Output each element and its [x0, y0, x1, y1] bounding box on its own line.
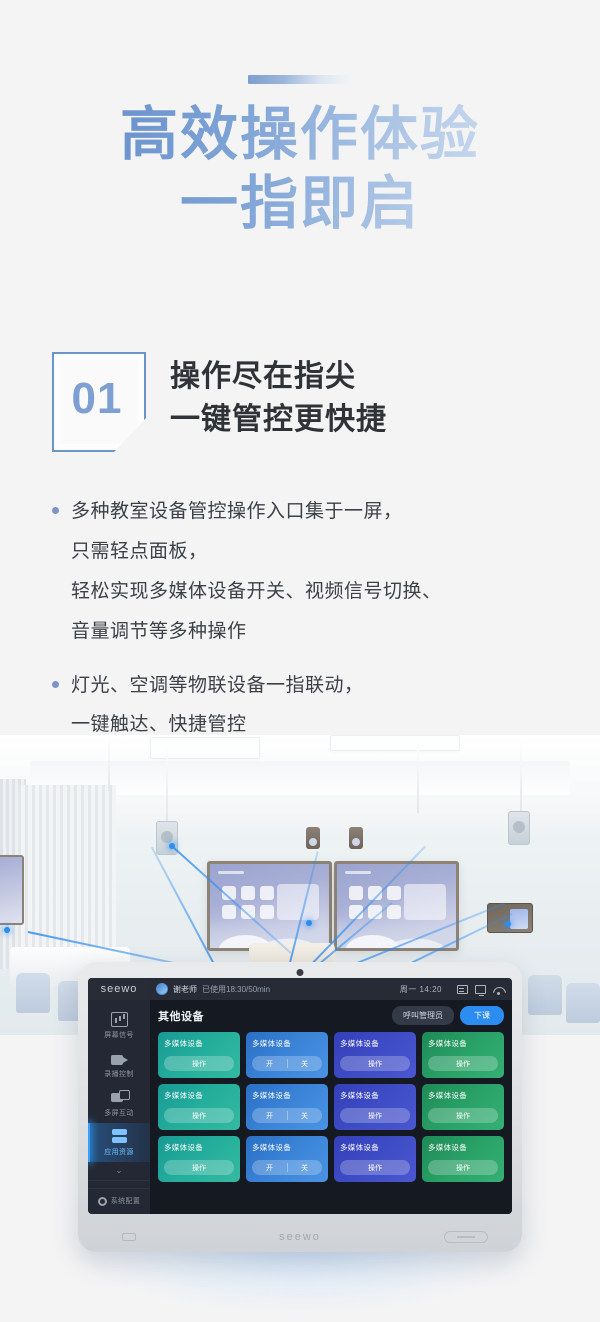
feature-bullet-list: 多种教室设备管控操作入口集于一屏， 只需轻点面板， 轻松实现多媒体设备开关、视频…: [52, 492, 572, 759]
section-heading: 操作尽在指尖 一键管控更快捷: [170, 352, 387, 441]
tablet-camera-icon: [297, 969, 304, 976]
device-switch-button[interactable]: 开 关: [252, 1160, 322, 1175]
status-time: 周一 14:20: [400, 984, 442, 995]
bullet-dot-icon: [52, 507, 59, 514]
panel-header: 其他设备 呼叫管理员 下课: [158, 1006, 504, 1025]
connection-node: [505, 921, 511, 927]
device-card[interactable]: 多媒体设备 开 关: [246, 1032, 328, 1078]
device-action-button[interactable]: 操作: [164, 1056, 234, 1071]
status-bar: seewo 谢老师 已使用18:30/50min 周一 14:20: [88, 978, 512, 1000]
speaker-rod: [417, 739, 419, 813]
record-control-icon: [111, 1051, 128, 1066]
bullet-line: 灯光、空调等物联设备一指联动，: [71, 666, 364, 706]
device-switch-button[interactable]: 开 关: [252, 1056, 322, 1071]
classroom-chair: [16, 973, 50, 1013]
tablet-screen: seewo 谢老师 已使用18:30/50min 周一 14:20 屏幕信号 录…: [88, 978, 512, 1214]
screen-signal-icon: [111, 1012, 128, 1027]
ceiling-light-panel: [330, 735, 460, 751]
app-resource-icon: [111, 1129, 128, 1144]
device-card-title: 多媒体设备: [340, 1142, 410, 1153]
section-header: 01 操作尽在指尖 一键管控更快捷: [52, 352, 552, 452]
device-card-title: 多媒体设备: [428, 1142, 498, 1153]
device-card-title: 多媒体设备: [428, 1090, 498, 1101]
switch-off-label[interactable]: 关: [287, 1059, 322, 1069]
device-card-title: 多媒体设备: [340, 1090, 410, 1101]
device-card[interactable]: 多媒体设备 操作: [158, 1136, 240, 1182]
sidebar-item-label: 应用资源: [104, 1147, 134, 1157]
section-number-badge: 01: [52, 352, 146, 452]
control-panel-tablet: seewo 谢老师 已使用18:30/50min 周一 14:20 屏幕信号 录…: [78, 962, 522, 1252]
device-card-title: 多媒体设备: [252, 1090, 322, 1101]
list-item: 灯光、空调等物联设备一指联动， 一键触达、快捷管控: [52, 666, 572, 746]
sidebar-item-multi-screen[interactable]: 多屏互动: [88, 1084, 150, 1123]
device-action-button[interactable]: 操作: [428, 1160, 498, 1175]
sidebar-item-record-control[interactable]: 录播控制: [88, 1045, 150, 1084]
status-user-name: 谢老师: [173, 984, 197, 995]
multi-screen-icon: [111, 1090, 128, 1105]
tablet-sidebar: 屏幕信号 录播控制 多屏互动 应用资源 ⌄ 系统配置: [88, 1000, 150, 1214]
device-card-title: 多媒体设备: [164, 1038, 234, 1049]
device-action-button[interactable]: 操作: [340, 1056, 410, 1071]
sensor-icon: [122, 1233, 136, 1241]
sidebar-item-screen-signal[interactable]: 屏幕信号: [88, 1006, 150, 1045]
switch-on-label[interactable]: 开: [252, 1059, 287, 1069]
chevron-down-icon[interactable]: ⌄: [88, 1162, 150, 1181]
status-usage-text: 已使用18:30/50min: [202, 984, 270, 995]
switch-off-label[interactable]: 关: [287, 1111, 322, 1121]
device-action-button[interactable]: 操作: [428, 1056, 498, 1071]
switch-divider: [287, 1163, 288, 1172]
avatar[interactable]: [156, 983, 168, 995]
gear-icon: [98, 1197, 107, 1206]
device-card-title: 多媒体设备: [164, 1142, 234, 1153]
speaker-grill-icon: [444, 1231, 488, 1243]
sidebar-item-app-resource[interactable]: 应用资源: [88, 1123, 150, 1162]
classroom-chair: [528, 975, 562, 1015]
bullet-line: 音量调节等多种操作: [71, 612, 442, 652]
list-item: 多种教室设备管控操作入口集于一屏， 只需轻点面板， 轻松实现多媒体设备开关、视频…: [52, 492, 572, 652]
hero-title-line-2: 一指即启: [0, 173, 600, 236]
device-card[interactable]: 多媒体设备 开 关: [246, 1084, 328, 1130]
end-class-button[interactable]: 下课: [460, 1006, 504, 1025]
wifi-icon[interactable]: [493, 985, 504, 994]
main-display-left: [207, 861, 332, 951]
panel-content: 其他设备 呼叫管理员 下课 多媒体设备 操作 多媒体设备 开: [150, 1000, 512, 1214]
device-action-button[interactable]: 操作: [164, 1160, 234, 1175]
connection-node: [306, 920, 312, 926]
sidebar-item-label: 多屏互动: [104, 1108, 134, 1118]
sidebar-item-label: 系统配置: [111, 1196, 141, 1206]
tablet-brand-label: seewo: [279, 1231, 321, 1243]
tablet-bottom-bezel: seewo: [88, 1222, 512, 1252]
device-card[interactable]: 多媒体设备 操作: [158, 1032, 240, 1078]
classroom-camera: [306, 827, 320, 849]
device-switch-button[interactable]: 开 关: [252, 1108, 322, 1123]
section-heading-line-2: 一键管控更快捷: [170, 399, 387, 442]
device-action-button[interactable]: 操作: [164, 1108, 234, 1123]
bullet-line: 多种教室设备管控操作入口集于一屏，: [71, 492, 442, 532]
call-admin-button[interactable]: 呼叫管理员: [392, 1006, 454, 1025]
display-widget-card: [277, 884, 319, 920]
device-card[interactable]: 多媒体设备 操作: [422, 1084, 504, 1130]
bullet-dot-icon: [52, 681, 59, 688]
device-action-button[interactable]: 操作: [428, 1108, 498, 1123]
badge-number-label: 01: [52, 352, 146, 452]
device-card[interactable]: 多媒体设备 开 关: [246, 1136, 328, 1182]
device-action-button[interactable]: 操作: [340, 1160, 410, 1175]
connection-node: [4, 927, 10, 933]
bullet-text-block: 灯光、空调等物联设备一指联动， 一键触达、快捷管控: [71, 666, 364, 746]
speaker-rod: [108, 735, 110, 791]
device-card-title: 多媒体设备: [252, 1038, 322, 1049]
ceiling-speaker: [508, 811, 530, 845]
sidebar-item-system-config[interactable]: 系统配置: [88, 1188, 150, 1214]
display-widget-card: [404, 884, 446, 920]
device-card-title: 多媒体设备: [164, 1090, 234, 1101]
sidebar-item-label: 屏幕信号: [104, 1030, 134, 1040]
hero-title-line-1: 高效操作体验: [0, 104, 600, 167]
switch-on-label[interactable]: 开: [252, 1163, 287, 1173]
hero-title: 高效操作体验 一指即启: [0, 104, 600, 235]
keyboard-icon[interactable]: [457, 985, 468, 994]
device-action-button[interactable]: 操作: [340, 1108, 410, 1123]
speaker-rod: [166, 743, 168, 821]
side-display-screen: [0, 855, 24, 925]
device-card[interactable]: 多媒体设备 操作: [334, 1032, 416, 1078]
sidebar-item-label: 录播控制: [104, 1069, 134, 1079]
switch-divider: [287, 1111, 288, 1120]
window-curtain: [18, 785, 116, 965]
section-heading-line-1: 操作尽在指尖: [170, 356, 387, 399]
device-card-title: 多媒体设备: [428, 1038, 498, 1049]
bullet-line: 只需轻点面板，: [71, 532, 442, 572]
screen-body: 屏幕信号 录播控制 多屏互动 应用资源 ⌄ 系统配置: [88, 1000, 512, 1214]
device-card-grid: 多媒体设备 操作 多媒体设备 开 关 多媒体设备 操作: [158, 1032, 504, 1182]
bullet-text-block: 多种教室设备管控操作入口集于一屏， 只需轻点面板， 轻松实现多媒体设备开关、视频…: [71, 492, 442, 652]
device-card[interactable]: 多媒体设备 操作: [422, 1136, 504, 1182]
device-card[interactable]: 多媒体设备 操作: [422, 1032, 504, 1078]
title-accent-bar: [248, 75, 352, 84]
monitor-icon[interactable]: [475, 985, 486, 994]
classroom-chair: [566, 983, 600, 1023]
display-topbar: [345, 871, 371, 874]
page-title: 其他设备: [158, 1008, 204, 1024]
bullet-line: 轻松实现多媒体设备开关、视频信号切换、: [71, 572, 442, 612]
device-card[interactable]: 多媒体设备 操作: [334, 1136, 416, 1182]
connection-node: [169, 843, 175, 849]
seewo-logo: seewo: [88, 978, 150, 1000]
classroom-camera: [349, 827, 363, 849]
switch-off-label[interactable]: 关: [287, 1163, 322, 1173]
switch-on-label[interactable]: 开: [252, 1111, 287, 1121]
switch-divider: [287, 1059, 288, 1068]
device-card[interactable]: 多媒体设备 操作: [334, 1084, 416, 1130]
device-card-title: 多媒体设备: [340, 1038, 410, 1049]
device-card[interactable]: 多媒体设备 操作: [158, 1084, 240, 1130]
device-card-title: 多媒体设备: [252, 1142, 322, 1153]
display-topbar: [218, 871, 244, 874]
speaker-rod: [520, 739, 522, 811]
